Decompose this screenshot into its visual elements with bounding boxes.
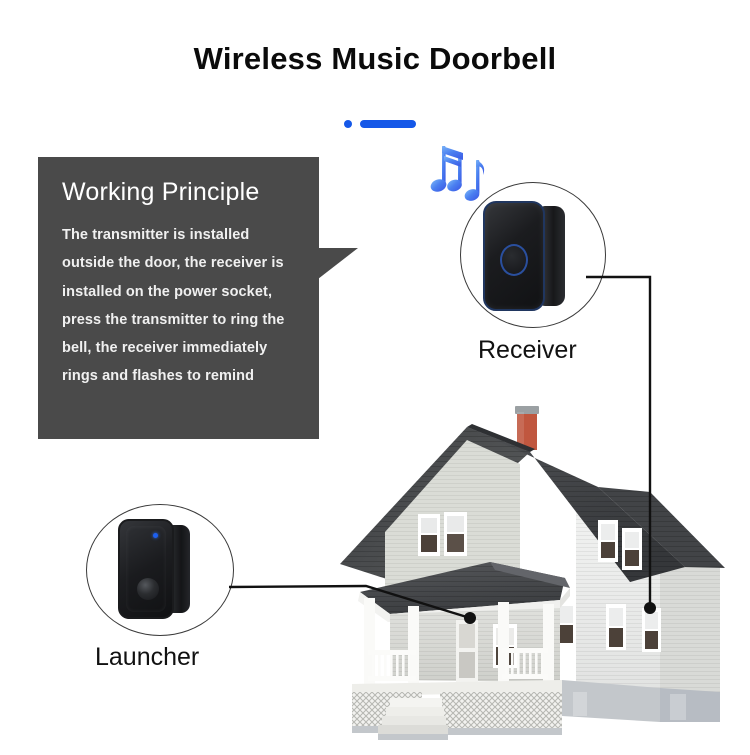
receiver-button <box>500 244 528 276</box>
launcher-device <box>118 519 194 619</box>
launcher-button <box>137 578 159 600</box>
callout-tail <box>318 248 358 279</box>
window-group-lower-right <box>556 602 661 652</box>
callout-body-text: The transmitter is installed outside the… <box>62 221 297 391</box>
porch-foundation <box>352 680 562 740</box>
page-title: Wireless Music Doorbell <box>0 42 750 76</box>
receiver-front-face <box>483 201 545 311</box>
callout-heading: Working Principle <box>62 177 297 207</box>
launcher-label: Launcher <box>95 643 199 672</box>
launcher-led-indicator <box>153 533 158 538</box>
receiver-device <box>483 201 567 311</box>
front-door <box>456 620 478 682</box>
music-notes-icon <box>430 138 492 208</box>
infographic-canvas: Wireless Music Doorbell <box>0 0 750 750</box>
model-house <box>330 392 730 750</box>
signal-bar-icon <box>360 120 416 128</box>
launcher-front-face <box>118 519 174 619</box>
signal-dash-decoration <box>344 120 416 128</box>
signal-dot-icon <box>344 120 352 128</box>
working-principle-callout: Working Principle The transmitter is ins… <box>38 157 319 439</box>
receiver-label: Receiver <box>478 336 577 365</box>
